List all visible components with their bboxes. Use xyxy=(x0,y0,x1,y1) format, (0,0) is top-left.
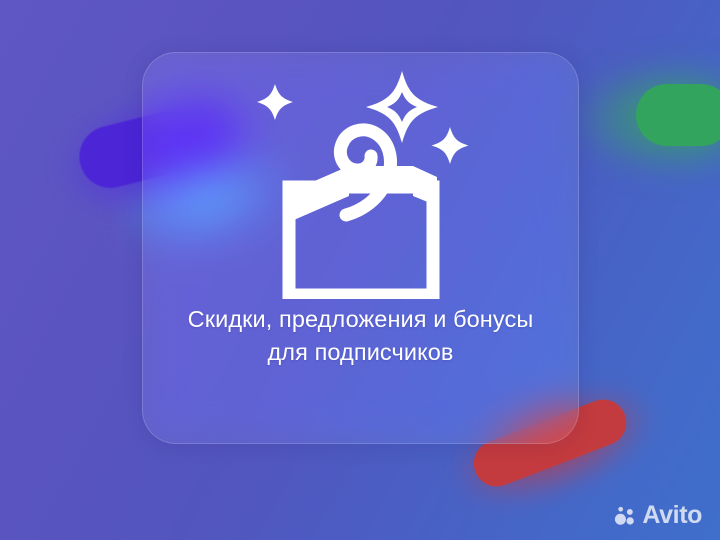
headline-line-1: Скидки, предложения и бонусы xyxy=(161,303,561,336)
promo-headline: Скидки, предложения и бонусы для подписч… xyxy=(161,303,561,369)
avito-dots-logo xyxy=(614,505,636,527)
promo-card: Скидки, предложения и бонусы для подписч… xyxy=(142,52,579,444)
avito-watermark: Avito xyxy=(614,503,702,528)
gift-box-sparkles-icon xyxy=(241,67,481,299)
headline-line-2: для подписчиков xyxy=(161,336,561,369)
avito-wordmark: Avito xyxy=(642,503,702,528)
promo-banner: Скидки, предложения и бонусы для подписч… xyxy=(0,0,720,540)
green-capsule-decoration xyxy=(636,84,720,146)
